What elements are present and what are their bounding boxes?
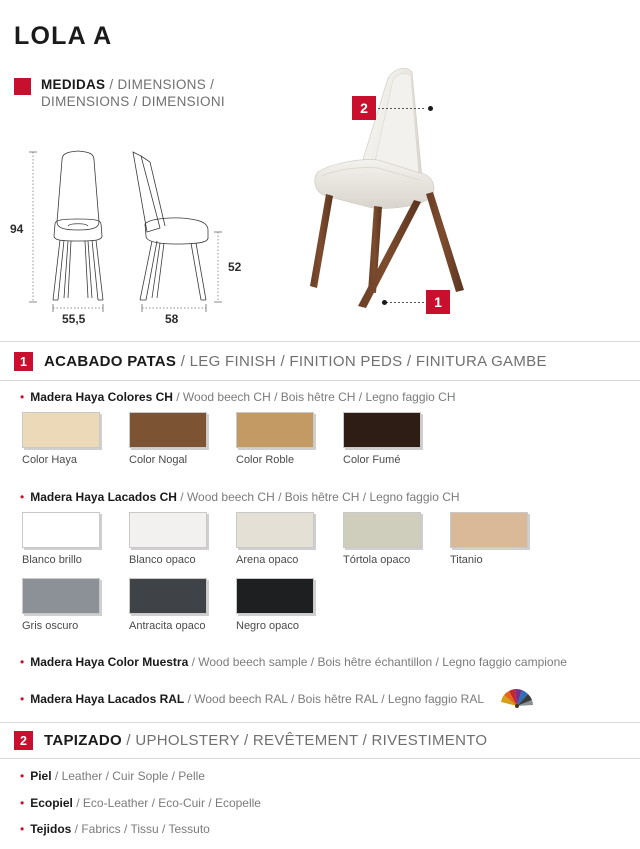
swatch-blanco-brillo[interactable]: Blanco brillo — [22, 512, 100, 566]
swatch-antracita-opaco[interactable]: Antracita opaco — [129, 578, 207, 632]
section-title-leg-finish: ACABADO PATAS — [44, 353, 176, 370]
upholstery-tejidos-rest: / Fabrics / Tissu / Tessuto — [71, 822, 210, 836]
dimension-width: 55,5 — [62, 312, 85, 326]
upholstery-ecopiel-bold: Ecopiel — [30, 796, 73, 810]
section-header-upholstery: 2 TAPIZADO / UPHOLSTERY / REVÊTEMENT / R… — [14, 731, 487, 750]
section-title-upholstery-translations: / UPHOLSTERY / REVÊTEMENT / RIVESTIMENTO — [122, 732, 487, 749]
upholstery-ecopiel-rest: / Eco-Leather / Eco-Cuir / Ecopelle — [73, 796, 261, 810]
divider-top-upholstery — [0, 722, 640, 723]
group-ral-bold: Madera Haya Lacados RAL — [30, 692, 184, 706]
swatch-label: Arena opaco — [236, 554, 314, 566]
swatch-label: Blanco opaco — [129, 554, 207, 566]
swatch-color-fume[interactable]: Color Fumé — [343, 412, 421, 466]
group-ral-rest: / Wood beech RAL / Bois hêtre RAL / Legn… — [184, 692, 484, 706]
swatch-row-lacados-1: Blanco brillo Blanco opaco Arena opaco T… — [22, 512, 557, 566]
divider-bottom-upholstery — [0, 758, 640, 759]
group-label-color-muestra: • Madera Haya Color Muestra / Wood beech… — [20, 655, 567, 669]
upholstery-piel-bold: Piel — [30, 769, 51, 783]
dimensions-heading-bold: MEDIDAS — [41, 77, 105, 92]
divider-bottom-legs — [0, 380, 640, 381]
dimensions-heading-line2: DIMENSIONS / DIMENSIONI — [41, 94, 225, 109]
dimension-height: 94 — [10, 222, 23, 236]
product-photo — [300, 60, 550, 330]
swatch-label: Antracita opaco — [129, 620, 207, 632]
swatch-chip[interactable] — [236, 578, 314, 614]
swatch-chip[interactable] — [236, 512, 314, 548]
section-title-upholstery: TAPIZADO — [44, 732, 122, 749]
swatch-negro-opaco[interactable]: Negro opaco — [236, 578, 314, 632]
callout-1-point — [382, 300, 387, 305]
dimension-depth: 58 — [165, 312, 178, 326]
bullet-dot-icon: • — [20, 491, 24, 503]
callout-badge-1[interactable]: 1 — [426, 290, 450, 314]
swatch-color-nogal[interactable]: Color Nogal — [129, 412, 207, 466]
swatch-label: Color Fumé — [343, 454, 421, 466]
swatch-label: Color Nogal — [129, 454, 207, 466]
upholstery-item-ecopiel: • Ecopiel / Eco-Leather / Eco-Cuir / Eco… — [20, 796, 261, 810]
chair-photo-svg — [300, 60, 550, 330]
swatch-chip[interactable] — [22, 512, 100, 548]
swatch-label: Tórtola opaco — [343, 554, 421, 566]
group-label-lacados-ch: • Madera Haya Lacados CH / Wood beech CH… — [20, 490, 460, 504]
swatch-chip[interactable] — [22, 412, 100, 448]
swatch-arena-opaco[interactable]: Arena opaco — [236, 512, 314, 566]
product-spec-sheet: LOLA A MEDIDAS / DIMENSIONS / DIMENSIONS… — [0, 0, 640, 849]
color-fan-icon — [500, 682, 534, 712]
group-colores-bold: Madera Haya Colores CH — [30, 390, 173, 404]
swatch-label: Gris oscuro — [22, 620, 100, 632]
group-label-colores-ch: • Madera Haya Colores CH / Wood beech CH… — [20, 390, 456, 404]
bullet-dot-icon: • — [20, 656, 24, 668]
bullet-dot-icon: • — [20, 693, 24, 705]
swatch-chip[interactable] — [22, 578, 100, 614]
callout-2-leader — [378, 108, 426, 109]
swatch-color-roble[interactable]: Color Roble — [236, 412, 314, 466]
swatch-label: Negro opaco — [236, 620, 314, 632]
swatch-chip[interactable] — [129, 512, 207, 548]
section-number-1: 1 — [14, 352, 33, 371]
bullet-dot-icon: • — [20, 823, 24, 835]
upholstery-item-piel: • Piel / Leather / Cuir Sople / Pelle — [20, 769, 205, 783]
section-number-2: 2 — [14, 731, 33, 750]
swatch-row-colores: Color Haya Color Nogal Color Roble Color… — [22, 412, 450, 466]
swatch-gris-oscuro[interactable]: Gris oscuro — [22, 578, 100, 632]
group-colores-rest: / Wood beech CH / Bois hêtre CH / Legno … — [173, 390, 456, 404]
upholstery-tejidos-bold: Tejidos — [30, 822, 71, 836]
section-title-leg-finish-translations: / LEG FINISH / FINITION PEDS / FINITURA … — [176, 353, 547, 370]
callout-2-point — [428, 106, 433, 111]
bullet-dot-icon: • — [20, 770, 24, 782]
callout-1-leader — [386, 302, 424, 303]
group-lacados-bold: Madera Haya Lacados CH — [30, 490, 177, 504]
bullet-dot-icon: • — [20, 391, 24, 403]
swatch-color-haya[interactable]: Color Haya — [22, 412, 100, 466]
group-lacados-rest: / Wood beech CH / Bois hêtre CH / Legno … — [177, 490, 460, 504]
upholstery-item-tejidos: • Tejidos / Fabrics / Tissu / Tessuto — [20, 822, 210, 836]
color-fan-svg — [500, 682, 534, 712]
swatch-chip[interactable] — [343, 412, 421, 448]
bullet-dot-icon: • — [20, 797, 24, 809]
group-muestra-rest: / Wood beech sample / Bois hêtre échanti… — [188, 655, 567, 669]
technical-drawing: 94 52 55,5 58 — [0, 140, 280, 325]
swatch-titanio[interactable]: Titanio — [450, 512, 528, 566]
swatch-chip[interactable] — [129, 412, 207, 448]
red-marker-square — [14, 78, 31, 95]
swatch-label: Color Roble — [236, 454, 314, 466]
dimension-seat-height: 52 — [228, 260, 241, 274]
dimensions-heading-rest: / DIMENSIONS / — [105, 77, 214, 92]
swatch-row-lacados-2: Gris oscuro Antracita opaco Negro opaco — [22, 578, 343, 632]
group-label-lacados-ral: • Madera Haya Lacados RAL / Wood beech R… — [20, 692, 484, 706]
section-header-leg-finish: 1 ACABADO PATAS / LEG FINISH / FINITION … — [14, 352, 547, 371]
chair-dimension-svg — [0, 140, 280, 325]
dimensions-heading: MEDIDAS / DIMENSIONS / DIMENSIONS / DIME… — [14, 76, 225, 110]
swatch-label: Color Haya — [22, 454, 100, 466]
swatch-blanco-opaco[interactable]: Blanco opaco — [129, 512, 207, 566]
swatch-label: Titanio — [450, 554, 528, 566]
swatch-chip[interactable] — [450, 512, 528, 548]
callout-badge-2[interactable]: 2 — [352, 96, 376, 120]
upholstery-piel-rest: / Leather / Cuir Sople / Pelle — [52, 769, 205, 783]
swatch-chip[interactable] — [236, 412, 314, 448]
swatch-chip[interactable] — [343, 512, 421, 548]
swatch-tortola-opaco[interactable]: Tórtola opaco — [343, 512, 421, 566]
divider-top-legs — [0, 341, 640, 342]
swatch-chip[interactable] — [129, 578, 207, 614]
swatch-label: Blanco brillo — [22, 554, 100, 566]
group-muestra-bold: Madera Haya Color Muestra — [30, 655, 188, 669]
page-title: LOLA A — [14, 22, 112, 51]
